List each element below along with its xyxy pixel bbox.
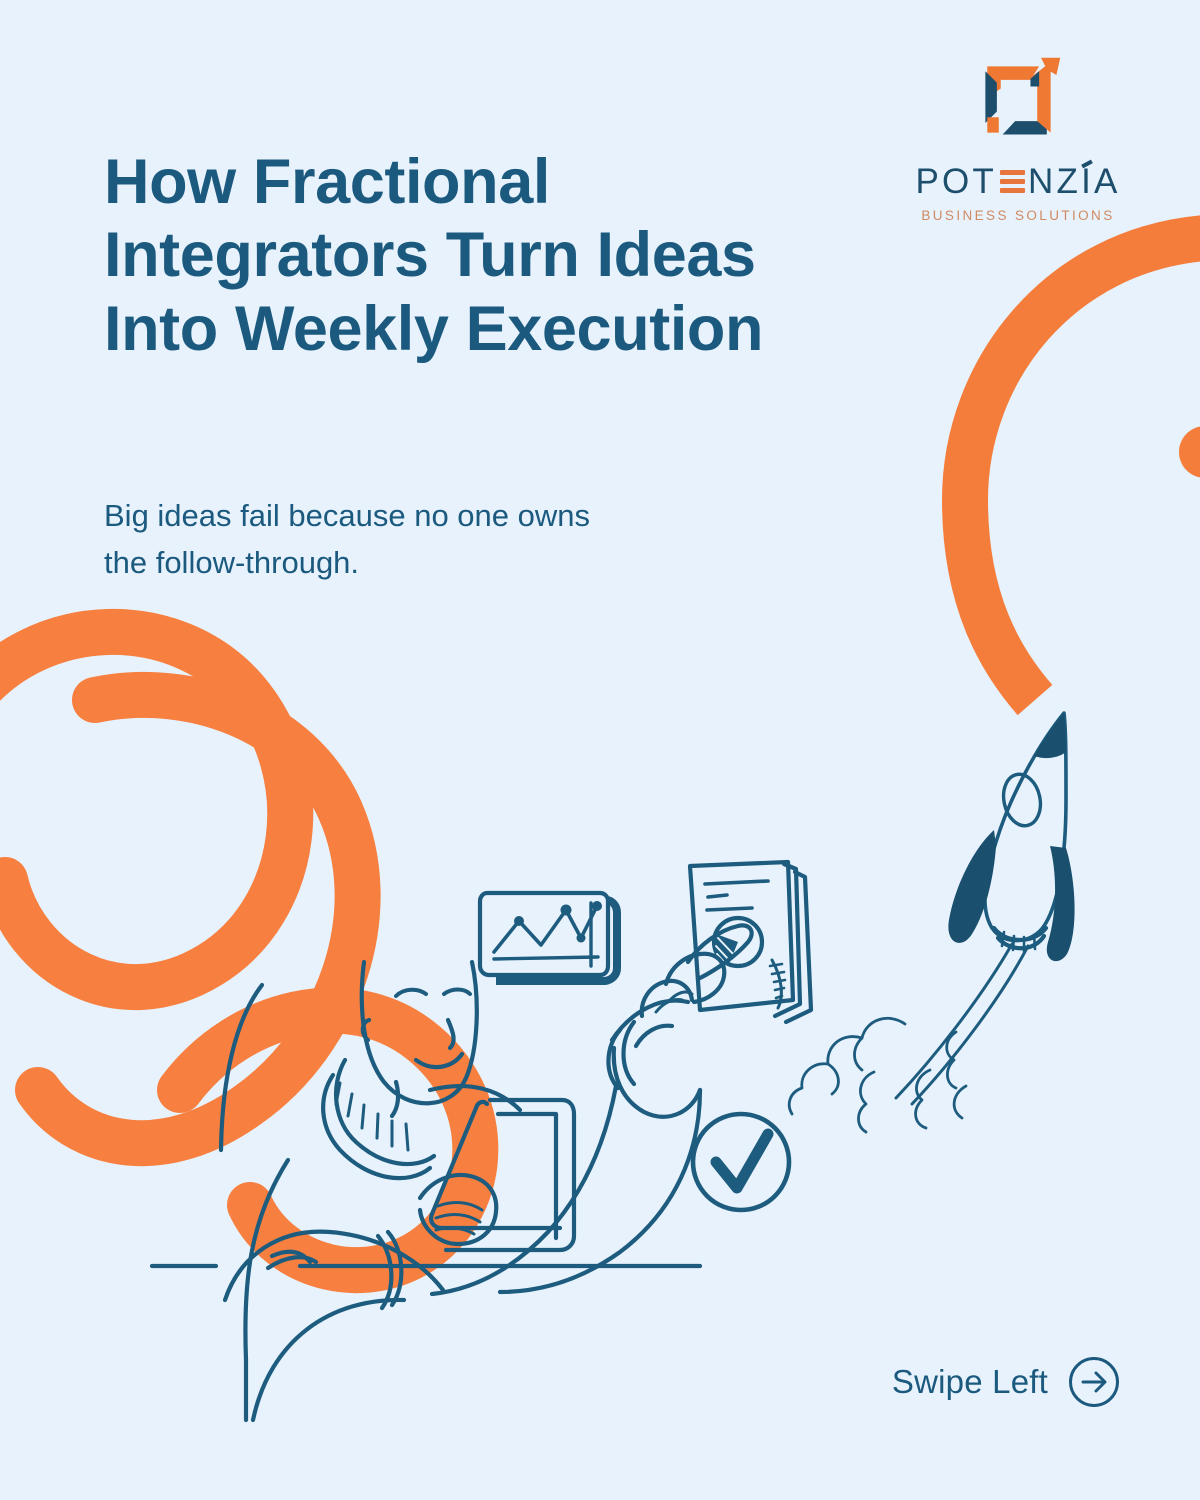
orange-c-arc [965,238,1200,700]
laptop [431,1100,574,1250]
logo-tagline: BUSINESS SOLUTIONS [921,208,1114,223]
swipe-left-cta[interactable]: Swipe Left [892,1356,1120,1408]
documents-stack [690,862,811,1022]
pointing-hand-arm [432,925,752,1294]
woman-figure [221,962,520,1420]
woman-hand [420,1175,496,1244]
orange-dot [1179,426,1200,478]
logo-wordmark: POT NZ I A [915,164,1120,199]
subtitle-line-1: Big ideas fail because no one owns [104,492,804,539]
arrow-right-circle-icon[interactable] [1068,1356,1120,1408]
swipe-left-label: Swipe Left [892,1363,1048,1401]
subtitle: Big ideas fail because no one owns the f… [104,492,804,586]
headline-line-3: Into Weekly Execution [104,293,944,366]
headline-line-1: How Fractional [104,146,944,219]
subtitle-line-2: the follow-through. [104,539,804,586]
logo-word-part3: A [1094,164,1121,199]
social-post-slide: POT NZ I A BUSINESS SOLUTIONS How Fracti… [0,0,1200,1500]
logo-word-part2: NZ [1028,164,1081,199]
orange-ribbon-loops [0,632,475,1270]
rocket [789,713,1074,1132]
page-title: How Fractional Integrators Turn Ideas In… [104,146,944,366]
headline-line-2: Integrators Turn Ideas [104,219,944,292]
potenzia-diamond-mark [970,52,1066,148]
line-chart-screen [480,893,617,981]
check-mark-circle [693,1114,789,1210]
logo-letter-e-bars [1000,170,1025,193]
logo-letter-i: I [1081,164,1094,199]
